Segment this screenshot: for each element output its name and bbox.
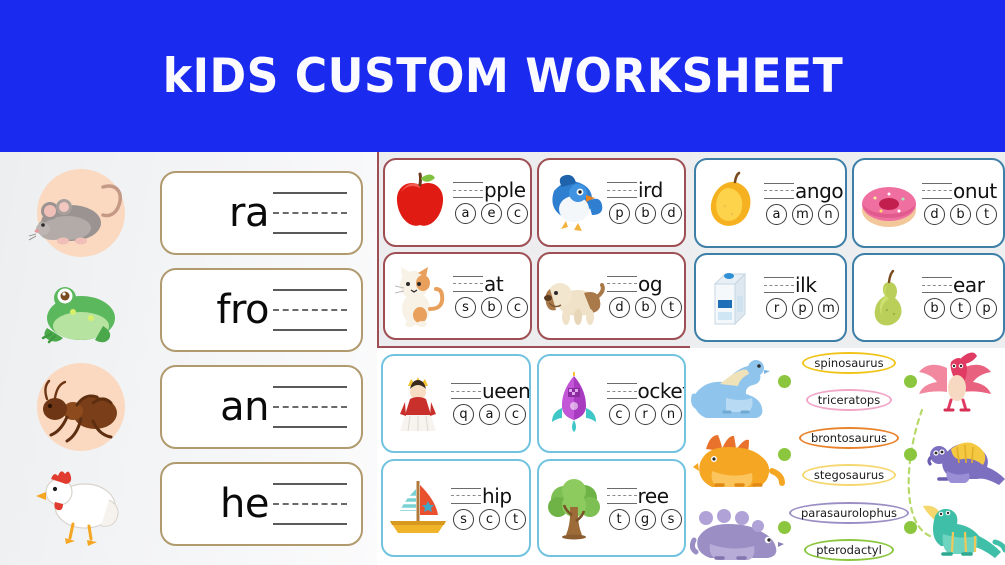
card-content: ueen q a c	[451, 381, 527, 425]
dino-label[interactable]: brontosaurus	[799, 427, 899, 449]
letter-blank[interactable]	[451, 381, 481, 401]
word-stem: hip	[482, 486, 512, 506]
letter-choice[interactable]: s	[453, 509, 474, 530]
letter-choice[interactable]: t	[950, 298, 971, 319]
hen-chicken-illustration	[33, 462, 129, 546]
letter-choice[interactable]: a	[479, 404, 500, 425]
dino-label[interactable]: parasaurolophus	[789, 502, 909, 524]
animal-slot	[31, 459, 131, 549]
letter-choice[interactable]: m	[792, 204, 813, 225]
card-word: ocket	[607, 381, 683, 401]
letter-choice[interactable]: c	[609, 404, 630, 425]
dino-label[interactable]: triceratops	[806, 389, 892, 411]
phonics-card[interactable]: ango a m n	[694, 158, 847, 248]
letter-choices: s c t	[451, 509, 527, 530]
letter-choice[interactable]: r	[766, 298, 787, 319]
worksheet-page: kIDS CUSTOM WORKSHEET	[0, 0, 1005, 565]
dog-illustration	[544, 265, 604, 327]
letter-blank[interactable]	[764, 275, 794, 295]
rocket-illustration	[544, 372, 604, 434]
letter-choices: d b t	[607, 297, 682, 318]
card-content: onut d b t	[922, 181, 1001, 225]
letter-blank[interactable]	[453, 180, 483, 200]
spinosaurus-orange-illustration[interactable]	[692, 423, 784, 489]
letter-choice[interactable]: d	[661, 203, 682, 224]
animal-slot	[31, 265, 131, 355]
word-box[interactable]: an	[160, 365, 363, 449]
card-content: at s b c	[453, 274, 528, 318]
letter-blank[interactable]	[922, 181, 952, 201]
card-content: ango a m n	[764, 181, 843, 225]
letter-choice[interactable]: d	[609, 297, 630, 318]
card-content: og d b t	[607, 274, 682, 318]
pterodactyl-pink-illustration[interactable]	[917, 350, 1005, 416]
letter-choice[interactable]: c	[507, 203, 528, 224]
word-answer-column: ra fro an h	[156, 160, 371, 559]
letter-choice[interactable]: d	[924, 204, 945, 225]
parasaurolophus-teal-illustration[interactable]	[917, 496, 1005, 562]
word-stem: onut	[953, 181, 997, 201]
letter-choice[interactable]: b	[481, 297, 502, 318]
pear-illustration	[859, 266, 919, 328]
worksheet-body: ra fro an h	[0, 152, 1005, 565]
word-stem: ear	[953, 275, 985, 295]
card-word: onut	[922, 181, 1001, 201]
cat-illustration	[390, 265, 450, 327]
dinosaur-column-right	[917, 350, 1005, 563]
milk-carton-illustration	[701, 266, 761, 328]
letter-choice[interactable]: g	[635, 509, 656, 530]
letter-choices: a e c	[453, 203, 528, 224]
phonics-card[interactable]: og d b t	[537, 252, 686, 341]
letter-choices: s b c	[453, 297, 528, 318]
panel-beginning-sound-animals: ra fro an h	[0, 152, 377, 565]
letter-choice[interactable]: s	[455, 297, 476, 318]
letter-choices: c r n	[607, 404, 683, 425]
writing-lines[interactable]	[273, 381, 347, 433]
letter-choice[interactable]: c	[507, 297, 528, 318]
tree-illustration	[544, 477, 604, 539]
card-word: ird	[607, 180, 682, 200]
letter-choices: b t p	[922, 298, 1001, 319]
card-content: ocket c r n	[607, 381, 683, 425]
phonics-card[interactable]: ueen q a c	[381, 354, 531, 453]
card-word: ree	[607, 486, 683, 506]
page-header: kIDS CUSTOM WORKSHEET	[0, 0, 1005, 152]
phonics-card[interactable]: pple a e c	[383, 158, 532, 247]
card-content: ree t g s	[607, 486, 683, 530]
writing-lines[interactable]	[273, 187, 347, 239]
letter-blank[interactable]	[764, 181, 794, 201]
phonics-card[interactable]: onut d b t	[852, 158, 1005, 248]
card-content: ear b t p	[922, 275, 1001, 319]
word-stem: he	[220, 484, 269, 524]
animal-image-column	[6, 160, 156, 559]
phonics-card[interactable]: hip s c t	[381, 459, 531, 558]
card-word: ilk	[764, 275, 843, 295]
word-stem: ocket	[638, 381, 687, 401]
animal-slot	[31, 168, 131, 258]
letter-choice[interactable]: p	[976, 298, 997, 319]
letter-choices: q a c	[451, 404, 527, 425]
letter-choice[interactable]: r	[635, 404, 656, 425]
card-content: hip s c t	[451, 486, 527, 530]
brontosaurus-blue-illustration[interactable]	[692, 350, 784, 416]
phonics-card[interactable]: ird p b d	[537, 158, 686, 247]
mouse-rat-illustration	[33, 171, 129, 255]
word-stem: ree	[638, 486, 669, 506]
phonics-card[interactable]: ocket c r n	[537, 354, 687, 453]
match-dot[interactable]	[904, 375, 917, 388]
word-stem: ueen	[482, 381, 530, 401]
phonics-card[interactable]: ilk r p m	[694, 253, 847, 343]
writing-lines[interactable]	[273, 478, 347, 530]
card-word: og	[607, 274, 682, 294]
letter-choice[interactable]: p	[609, 203, 630, 224]
letter-choice[interactable]: n	[661, 404, 682, 425]
card-content: ird p b d	[607, 180, 682, 224]
letter-choice[interactable]: n	[818, 204, 839, 225]
letter-choice[interactable]: a	[766, 204, 787, 225]
letter-choice[interactable]: t	[976, 204, 997, 225]
letter-choice[interactable]: b	[635, 297, 656, 318]
word-stem: pple	[484, 180, 526, 200]
page-title: kIDS CUSTOM WORKSHEET	[162, 49, 843, 104]
letter-choice[interactable]: c	[479, 509, 500, 530]
match-dot[interactable]	[904, 521, 917, 534]
letter-choices: r p m	[764, 298, 843, 319]
letter-blank[interactable]	[607, 180, 637, 200]
word-stem: ango	[795, 181, 843, 201]
letter-choices: t g s	[607, 509, 683, 530]
letter-choice[interactable]: c	[505, 404, 526, 425]
dinosaur-column-left	[692, 350, 784, 563]
panel-missing-letter-lightblue: ueen q a c	[377, 348, 690, 565]
card-word: at	[453, 274, 528, 294]
letter-choice[interactable]: t	[505, 509, 526, 530]
word-stem: ra	[229, 193, 269, 233]
ship-sailboat-illustration	[388, 477, 448, 539]
match-dots-right	[903, 348, 917, 561]
letter-blank[interactable]	[451, 486, 481, 506]
mango-illustration	[701, 172, 761, 234]
word-stem: og	[638, 274, 662, 294]
word-box[interactable]: ra	[160, 171, 363, 255]
apple-illustration	[390, 171, 450, 233]
card-word: hip	[451, 486, 527, 506]
word-stem: ird	[638, 180, 663, 200]
word-box[interactable]: he	[160, 462, 363, 546]
letter-choice[interactable]: t	[609, 509, 630, 530]
dinosaur-activity: spinosaurus triceratops brontosaurus ste…	[690, 348, 1005, 565]
letter-choice[interactable]: e	[481, 203, 502, 224]
frog-illustration	[33, 268, 129, 352]
donut-illustration	[859, 172, 919, 234]
letter-choice[interactable]: m	[818, 298, 839, 319]
card-content: pple a e c	[453, 180, 528, 224]
word-stem: an	[220, 387, 269, 427]
letter-choices: a m n	[764, 204, 843, 225]
letter-choices: p b d	[607, 203, 682, 224]
phonics-card[interactable]: ear b t p	[852, 253, 1005, 343]
letter-blank[interactable]	[607, 381, 637, 401]
bird-illustration	[544, 171, 604, 233]
panel-missing-letter-red: pple a e c	[377, 152, 690, 348]
card-word: ear	[922, 275, 1001, 295]
letter-blank[interactable]	[922, 275, 952, 295]
dino-label[interactable]: pterodactyl	[804, 539, 894, 561]
phonics-card[interactable]: ree t g s	[537, 459, 687, 558]
dino-label[interactable]: stegosaurus	[802, 464, 896, 486]
letter-choice[interactable]: b	[635, 203, 656, 224]
stegosaurus-purple-illustration[interactable]	[692, 496, 784, 562]
letter-choices: d b t	[922, 204, 1001, 225]
animal-slot	[31, 362, 131, 452]
card-content: ilk r p m	[764, 275, 843, 319]
queen-illustration	[388, 372, 448, 434]
phonics-card[interactable]: at s b c	[383, 252, 532, 341]
match-dot[interactable]	[904, 448, 917, 461]
writing-lines[interactable]	[273, 284, 347, 336]
letter-choice[interactable]: b	[924, 298, 945, 319]
letter-choice[interactable]: p	[792, 298, 813, 319]
letter-blank[interactable]	[453, 274, 483, 294]
letter-choice[interactable]: a	[455, 203, 476, 224]
word-box[interactable]: fro	[160, 268, 363, 352]
letter-choice[interactable]: s	[661, 509, 682, 530]
word-stem: at	[484, 274, 503, 294]
card-word: pple	[453, 180, 528, 200]
word-stem: ilk	[795, 275, 817, 295]
dinosaur-name-labels: spinosaurus triceratops brontosaurus ste…	[776, 352, 922, 561]
panel-missing-letter-blue: ango a m n	[690, 152, 1005, 348]
letter-blank[interactable]	[607, 274, 637, 294]
dimetrodon-purple-illustration[interactable]	[917, 423, 1005, 489]
letter-choice[interactable]: t	[661, 297, 682, 318]
letter-choice[interactable]: q	[453, 404, 474, 425]
ant-illustration	[33, 365, 129, 449]
word-stem: fro	[216, 290, 269, 330]
card-word: ango	[764, 181, 843, 201]
card-word: ueen	[451, 381, 527, 401]
dino-label[interactable]: spinosaurus	[802, 352, 895, 374]
letter-blank[interactable]	[607, 486, 637, 506]
letter-choice[interactable]: b	[950, 204, 971, 225]
panel-dinosaur-matching: spinosaurus triceratops brontosaurus ste…	[690, 348, 1005, 565]
